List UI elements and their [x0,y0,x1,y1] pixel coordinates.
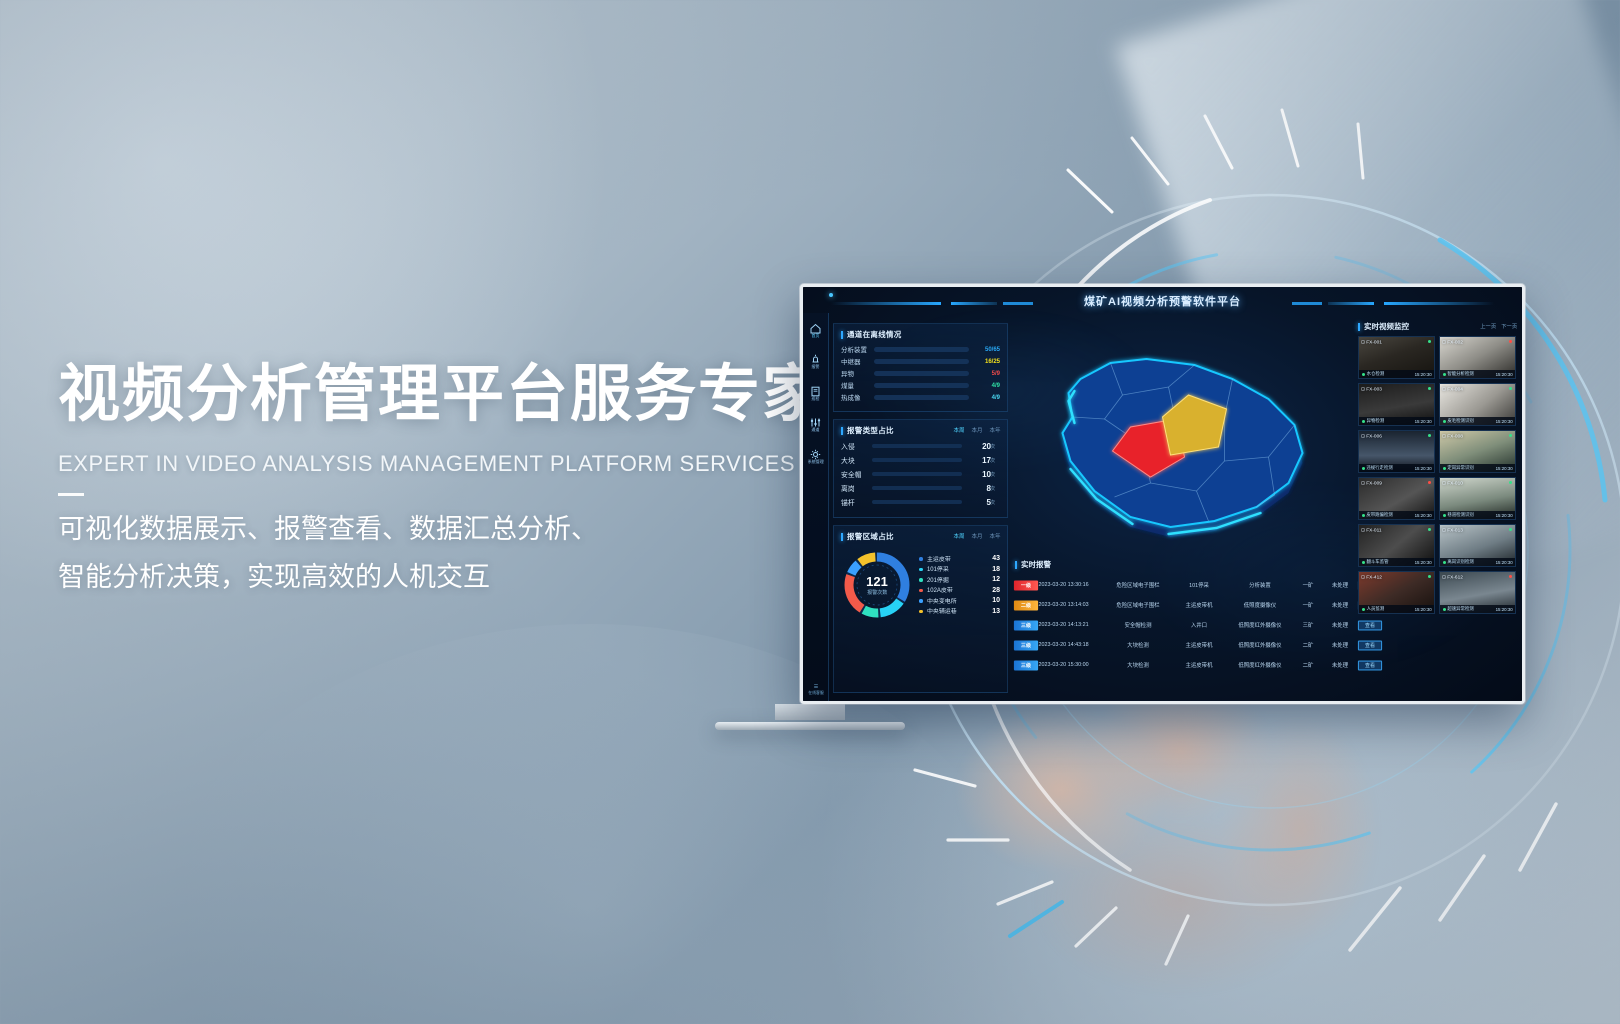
status-badge: 未处理 [1324,641,1356,649]
hero-desc-line-2: 智能分析决策，实现高效的人机交互 [58,554,818,601]
alarm-area-tab[interactable]: 本月 [971,533,982,541]
channel-bar-track [874,347,969,352]
video-status-label: 皮带跑偏检测 [1366,512,1392,518]
video-record-dot [1428,340,1431,343]
hero-desc-line-1: 可视化数据展示、报警查看、数据汇总分析、 [58,506,818,553]
legend-item: 101停采18 [919,565,1000,573]
video-status-label: 违规行走检测 [1366,465,1392,471]
alarm-area-panel: 报警区域占比 本周本月本年 121 报警次数 主运皮带43101停采18201停… [833,525,1008,693]
video-camera-id: ⊡ FX-003 [1361,386,1382,392]
legend-value: 13 [992,608,1000,615]
legend-dot [919,610,923,614]
video-timestamp: 15:20:30 [1414,371,1431,376]
alarm-type-value: 5 [967,498,991,507]
video-status-label: 离岗识别检测 [1447,559,1473,565]
channel-rows: 分析装置50/65中继器16/25异物5/9煤量4/9热成像4/9 [841,345,1000,402]
alarm-time: 2023-03-20 14:13:21 [1039,622,1106,628]
alarm-type: 安全帽检测 [1105,621,1172,629]
alarm-area-tabs[interactable]: 本周本月本年 [954,533,1000,540]
alarm-type-unit: 次 [990,471,1000,478]
video-timestamp: 15:20:30 [1495,418,1512,423]
status-badge: 未处理 [1324,601,1356,609]
video-status-bar: 巷道检测识别15:20:30 [1440,511,1515,519]
video-tile[interactable]: ⊡ FX-004皮毛检测识别15:20:30 [1439,383,1516,426]
channel-bar-track [874,383,969,388]
legend-item: 中央辅运巷13 [919,607,1000,615]
alarm-device: 低照度摄像仪 [1227,601,1294,609]
alarm-type-row: 锚杆5次 [841,497,1000,507]
channel-value: 50/65 [974,347,1000,353]
video-status: 翻斗车监管 [1362,559,1388,565]
alarm-area-tab[interactable]: 本周 [953,533,964,541]
channel-value: 5/9 [974,371,1000,377]
legend-label: 中央辅运巷 [927,607,992,615]
sidebar-item-4[interactable]: 系统管理 [804,449,828,464]
alarm-type: 危险区域电子围栏 [1105,601,1172,609]
alarm-location: 主运皮带机 [1171,661,1227,669]
legend-item: 主运皮带43 [919,555,1000,563]
alarm-type-row: 入侵20次 [841,441,1000,451]
region-map[interactable] [1015,321,1352,556]
channel-value: 16/25 [974,359,1000,365]
alarm-type-row: 安全帽10次 [841,469,1000,479]
table-row: 二级2023-03-20 13:14:03危险区域电子围栏主运皮带机低照度摄像仪… [1015,595,1352,615]
video-status: 定岗异常识别 [1443,465,1473,471]
alarm-type-row: 大块17次 [841,455,1000,465]
alarm-type-tab[interactable]: 本年 [989,427,1000,435]
video-status: 智能分析检测 [1443,371,1473,377]
channel-row: 分析装置50/65 [841,345,1000,354]
table-row: 三级2023-03-20 14:13:21安全帽检测入井口低照度红外摄像仪三矿未… [1015,615,1352,635]
video-grid: ⊡ FX-001水仓检测15:20:30⊡ FX-002智能分析检测15:20:… [1358,336,1516,614]
video-timestamp: 15:20:30 [1414,606,1431,611]
table-row: 三级2023-03-20 15:30:00大块检测主运皮带机低照度红外摄像仪二矿… [1015,655,1352,675]
video-status-bar: 皮带跑偏检测15:20:30 [1359,511,1434,519]
video-status: 异物检测 [1362,418,1384,424]
alarm-type-label: 入侵 [841,441,868,452]
video-status-label: 超速异常检测 [1447,606,1473,612]
alarm-mine: 一矿 [1294,601,1322,609]
sidebar-item-label: 报警 [811,366,819,370]
status-badge: 未处理 [1324,661,1356,669]
dashboard-screen: 煤矿AI视频分析预警软件平台 首页报警巡检通道系统管理☰在线客服 通道在离线情况… [803,287,1522,701]
video-timestamp: 15:20:30 [1414,512,1431,517]
video-status: 人员监测 [1362,606,1384,612]
legend-dot [919,578,923,582]
video-timestamp: 15:20:30 [1495,371,1512,376]
sidebar-footer-label: 在线客服 [803,690,831,696]
donut-legend: 主运皮带43101停采18201停掘12102A皮带28中央变电所10中央辅运巷… [919,555,1000,616]
sidebar-item-label: 巡检 [811,398,819,402]
video-camera-id: ⊡ FX-612 [1442,574,1463,580]
video-monitor-panel: 实时视频监控 上一页 下一页 ⊡ FX-001水仓检测15:20:30⊡ FX-… [1358,321,1516,695]
video-status-bar: 皮毛检测识别15:20:30 [1440,417,1515,425]
video-camera-id: ⊡ FX-001 [1361,339,1382,345]
video-tile[interactable]: ⊡ FX-003异物检测15:20:30 [1358,383,1435,426]
alarm-type-track [872,472,962,476]
table-row: 三级2023-03-20 14:43:18大块检测主运皮带机低照度红外摄像仪二矿… [1015,635,1352,655]
alarm-mine: 一矿 [1294,581,1322,589]
video-status-label: 皮毛检测识别 [1447,418,1473,424]
video-status-bar: 离岗识别检测15:20:30 [1440,558,1515,566]
video-timestamp: 15:20:30 [1495,512,1512,517]
alarm-type-tab[interactable]: 本月 [971,427,982,435]
video-camera-id: ⊡ FX-009 [1361,480,1382,486]
video-status-label: 巷道检测识别 [1447,512,1473,518]
channel-label: 分析装置 [841,345,871,355]
inspection-icon [810,386,821,397]
video-status: 超速异常检测 [1443,606,1473,612]
alarm-type-value: 17 [967,456,991,465]
alarm-type-label: 锚杆 [841,497,868,508]
channel-row: 煤量4/9 [841,381,1000,390]
video-record-dot [1428,387,1431,390]
alarm-type-unit: 次 [990,485,1000,492]
monitor-frame: 煤矿AI视频分析预警软件平台 首页报警巡检通道系统管理☰在线客服 通道在离线情况… [800,284,1525,704]
video-status-bar: 翻斗车监管15:20:30 [1359,558,1434,566]
video-camera-id: ⊡ FX-004 [1442,386,1463,392]
left-panel-column: 通道在离线情况 分析装置50/65中继器16/25异物5/9煤量4/9热成像4/… [833,323,1008,693]
legend-dot [919,568,923,572]
alarm-device: 分析装置 [1227,581,1294,589]
video-status-bar: 水仓检测15:20:30 [1359,370,1434,378]
video-camera-id: ⊡ FX-008 [1442,433,1463,439]
video-status: 皮带跑偏检测 [1362,512,1392,518]
video-record-dot [1509,481,1512,484]
legend-dot [919,557,923,561]
video-tile[interactable]: ⊡ FX-013离岗识别检测15:20:30 [1439,524,1516,567]
video-camera-id: ⊡ FX-013 [1442,527,1463,533]
video-timestamp: 15:20:30 [1495,559,1512,564]
video-next-page[interactable]: 下一页 [1501,323,1517,331]
alarm-device: 低照度红外摄像仪 [1227,621,1294,629]
video-camera-id: ⊡ FX-011 [1361,527,1382,533]
alarm-time: 2023-03-20 13:14:03 [1039,602,1106,608]
legend-value: 28 [992,587,1000,594]
status-badge: 未处理 [1324,581,1356,589]
video-status-bar: 超速异常检测15:20:30 [1440,605,1515,613]
alarms-rows: 一级2023-03-20 13:30:16危险区域电子围栏101停采分析装置一矿… [1015,575,1352,675]
alarm-time: 2023-03-20 13:30:16 [1039,582,1106,588]
sidebar-item-label: 系统管理 [807,460,823,464]
video-tile[interactable]: ⊡ FX-412人员监测15:20:30 [1358,571,1435,614]
alarm-location: 入井口 [1171,621,1227,629]
alarm-type: 危险区域电子围栏 [1105,581,1172,589]
alarm-type-panel: 报警类型占比 本周本月本年 入侵20次大块17次安全帽10次离岗8次锚杆5次 [833,419,1008,518]
sidebar-item-label: 首页 [811,335,819,339]
video-status-label: 异物检测 [1367,418,1385,424]
alarm-location: 主运皮带机 [1171,601,1227,609]
video-status-bar: 定岗异常识别15:20:30 [1440,464,1515,472]
channel-bar-track [874,371,969,376]
alarm-level-badge: 二级 [1014,600,1038,610]
donut-center: 121 报警次数 [841,549,913,621]
alarm-level-badge: 一级 [1014,580,1038,590]
legend-label: 201停掘 [927,576,992,584]
video-timestamp: 15:20:30 [1495,606,1512,611]
legend-label: 中央变电所 [927,597,992,605]
alarms-title: 实时报警 [1015,559,1352,570]
alarm-location: 主运皮带机 [1171,641,1227,649]
video-prev-page[interactable]: 上一页 [1480,323,1496,331]
alarm-type-title: 报警类型占比 [841,425,894,436]
alarm-type-tab[interactable]: 本周 [953,427,964,435]
page-title: 视频分析管理平台服务专家 [58,360,818,429]
legend-value: 10 [992,597,1000,604]
legend-label: 102A皮带 [927,586,992,594]
monitor-stand-neck [775,704,845,720]
hero-copy: 视频分析管理平台服务专家 EXPERT IN VIDEO ANALYSIS MA… [58,360,818,601]
legend-label: 101停采 [927,565,992,573]
channel-label: 中继器 [841,357,871,367]
legend-dot [919,599,923,603]
channel-bar-track [874,359,969,364]
donut-chart: 121 报警次数 [841,549,913,621]
alarm-level-badge: 三级 [1014,620,1038,630]
alarm-type-track [872,444,962,448]
channel-label: 异物 [841,369,871,379]
video-camera-id: ⊡ FX-006 [1361,433,1382,439]
video-status-bar: 违规行走检测15:20:30 [1359,464,1434,472]
realtime-alarms-panel: 实时报警 一级2023-03-20 13:30:16危险区域电子围栏101停采分… [1015,559,1352,695]
video-status-bar: 人员监测15:20:30 [1359,605,1434,613]
legend-value: 12 [992,576,1000,583]
video-panel-title: 实时视频监控 [1358,321,1409,332]
video-status-label: 定岗异常识别 [1447,465,1473,471]
alarm-level-badge: 三级 [1014,660,1038,670]
video-status-label: 人员监测 [1367,606,1385,612]
monitor-stand [715,704,905,730]
alarm-type-unit: 次 [990,443,1000,450]
video-record-dot [1509,434,1512,437]
channel-bar-track [874,395,969,400]
status-badge: 未处理 [1324,621,1356,629]
video-tile[interactable]: ⊡ FX-010巷道检测识别15:20:30 [1439,477,1516,520]
channel-label: 热成像 [841,393,871,403]
video-status-label: 水仓检测 [1367,371,1385,377]
alarm-type-row: 离岗8次 [841,483,1000,493]
alarm-type-tabs[interactable]: 本周本月本年 [954,427,1000,434]
channel-label: 煤量 [841,381,871,391]
legend-dot [919,589,923,593]
alarm-time: 2023-03-20 14:43:18 [1039,642,1106,648]
video-status-bar: 智能分析检测15:20:30 [1440,370,1515,378]
alarm-mine: 二矿 [1294,661,1322,669]
video-record-dot [1509,528,1512,531]
alarm-device: 低照度红外摄像仪 [1227,641,1294,649]
video-timestamp: 15:20:30 [1414,465,1431,470]
alarm-type-track [872,500,962,504]
alarm-type: 大块检测 [1105,641,1172,649]
alarm-level-badge: 三级 [1014,640,1038,650]
alarm-area-title: 报警区域占比 [841,531,894,542]
video-panel-header: 实时视频监控 上一页 下一页 [1358,321,1516,332]
monitor-stand-base [715,722,905,730]
donut-chart-wrap: 121 报警次数 主运皮带43101停采18201停掘12102A皮带28中央变… [841,547,1000,621]
legend-label: 主运皮带 [927,555,992,563]
alarm-mine: 二矿 [1294,641,1322,649]
legend-value: 18 [992,566,1000,573]
sidebar-footer[interactable]: ☰在线客服 [803,684,829,695]
home-icon [810,323,821,334]
hero-divider [58,493,84,496]
dashboard-header: 煤矿AI视频分析预警软件平台 [803,287,1522,317]
alarm-type-unit: 次 [990,499,1000,506]
alarm-type-header: 报警类型占比 本周本月本年 [841,425,1000,436]
channel-value: 4/9 [974,395,1000,401]
video-tile[interactable]: ⊡ FX-001水仓检测15:20:30 [1358,336,1435,379]
video-record-dot [1428,528,1431,531]
sidebar-item-1[interactable]: 报警 [804,354,828,369]
channel-value: 4/9 [974,383,1000,389]
alarm-type-value: 20 [967,442,991,451]
video-record-dot [1509,387,1512,390]
alarm-type-label: 大块 [841,455,868,466]
video-timestamp: 15:20:30 [1495,465,1512,470]
alarm-type-track [872,458,962,462]
video-camera-id: ⊡ FX-010 [1442,480,1463,486]
alarm-mine: 三矿 [1294,621,1322,629]
gear-icon [810,449,821,460]
alarm-type-value: 8 [967,484,991,493]
video-status: 水仓检测 [1362,371,1384,377]
video-record-dot [1509,340,1512,343]
video-tile[interactable]: ⊡ FX-008定岗异常识别15:20:30 [1439,430,1516,473]
video-record-dot [1428,575,1431,578]
donut-center-label: 报警次数 [867,589,887,596]
video-timestamp: 15:20:30 [1414,559,1431,564]
legend-item: 102A皮带28 [919,586,1000,594]
video-camera-id: ⊡ FX-412 [1361,574,1382,580]
video-tile[interactable]: ⊡ FX-011翻斗车监管15:20:30 [1358,524,1435,567]
sidebar-item-2[interactable]: 巡检 [804,386,828,401]
dashboard-title: 煤矿AI视频分析预警软件平台 [803,293,1522,309]
alarm-type-unit: 次 [990,457,1000,464]
video-tile[interactable]: ⊡ FX-002智能分析检测15:20:30 [1439,336,1516,379]
alarm-type-label: 离岗 [841,483,868,494]
alarm-location: 101停采 [1171,581,1227,589]
alarm-type-label: 安全帽 [841,469,868,480]
sidebar-item-3[interactable]: 通道 [804,417,828,432]
sidebar-item-label: 通道 [811,429,819,433]
video-tile[interactable]: ⊡ FX-009皮带跑偏检测15:20:30 [1358,477,1435,520]
video-status: 离岗识别检测 [1443,559,1473,565]
video-status-label: 智能分析检测 [1447,371,1473,377]
video-timestamp: 15:20:30 [1414,418,1431,423]
alarm-type-track [872,486,962,490]
video-record-dot [1509,575,1512,578]
channel-status-panel: 通道在离线情况 分析装置50/65中继器16/25异物5/9煤量4/9热成像4/… [833,323,1008,412]
legend-item: 201停掘12 [919,576,1000,584]
video-record-dot [1428,434,1431,437]
sidebar: 首页报警巡检通道系统管理☰在线客服 [803,313,829,701]
video-status: 巷道检测识别 [1443,512,1473,518]
alarm-type-value: 10 [967,470,991,479]
channel-panel-title: 通道在离线情况 [841,329,902,340]
video-camera-id: ⊡ FX-002 [1442,339,1463,345]
video-status: 皮毛检测识别 [1443,418,1473,424]
legend-value: 43 [992,555,1000,562]
video-status-bar: 异物检测15:20:30 [1359,417,1434,425]
hero-subtitle-en: EXPERT IN VIDEO ANALYSIS MANAGEMENT PLAT… [58,451,818,477]
alarm-area-header: 报警区域占比 本周本月本年 [841,531,1000,542]
alarm-device: 低照度红外摄像仪 [1227,661,1294,669]
channel-panel-header: 通道在离线情况 [841,329,1000,340]
channel-row: 中继器16/25 [841,357,1000,366]
sidebar-item-0[interactable]: 首页 [804,323,828,338]
video-record-dot [1428,481,1431,484]
channel-row: 异物5/9 [841,369,1000,378]
alarm-time: 2023-03-20 15:30:00 [1039,662,1106,668]
video-tile[interactable]: ⊡ FX-006违规行走检测15:20:30 [1358,430,1435,473]
alarm-type-rows: 入侵20次大块17次安全帽10次离岗8次锚杆5次 [841,441,1000,507]
video-status-label: 翻斗车监管 [1366,559,1388,565]
legend-item: 中央变电所10 [919,597,1000,605]
video-status: 违规行走检测 [1362,465,1392,471]
video-pagination[interactable]: 上一页 下一页 [1481,323,1516,330]
video-tile[interactable]: ⊡ FX-612超速异常检测15:20:30 [1439,571,1516,614]
alarm-area-tab[interactable]: 本年 [989,533,1000,541]
channel-row: 热成像4/9 [841,393,1000,402]
donut-center-value: 121 [866,575,888,588]
alarm-type: 大块检测 [1105,661,1172,669]
table-row: 一级2023-03-20 13:30:16危险区域电子围栏101停采分析装置一矿… [1015,575,1352,595]
